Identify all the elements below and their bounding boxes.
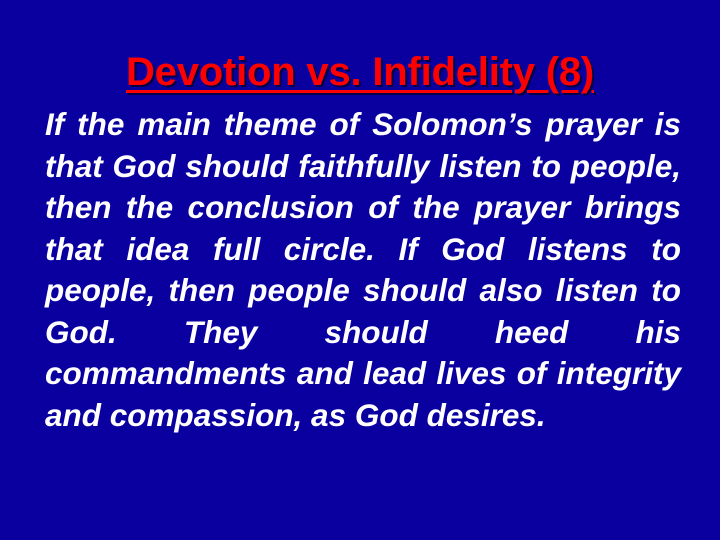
slide-body-text: If the main theme of Solomon’s prayer is… — [45, 104, 681, 436]
presentation-slide: Devotion vs. Infidelity (8) If the main … — [0, 0, 720, 540]
slide-title: Devotion vs. Infidelity (8) — [0, 49, 720, 95]
